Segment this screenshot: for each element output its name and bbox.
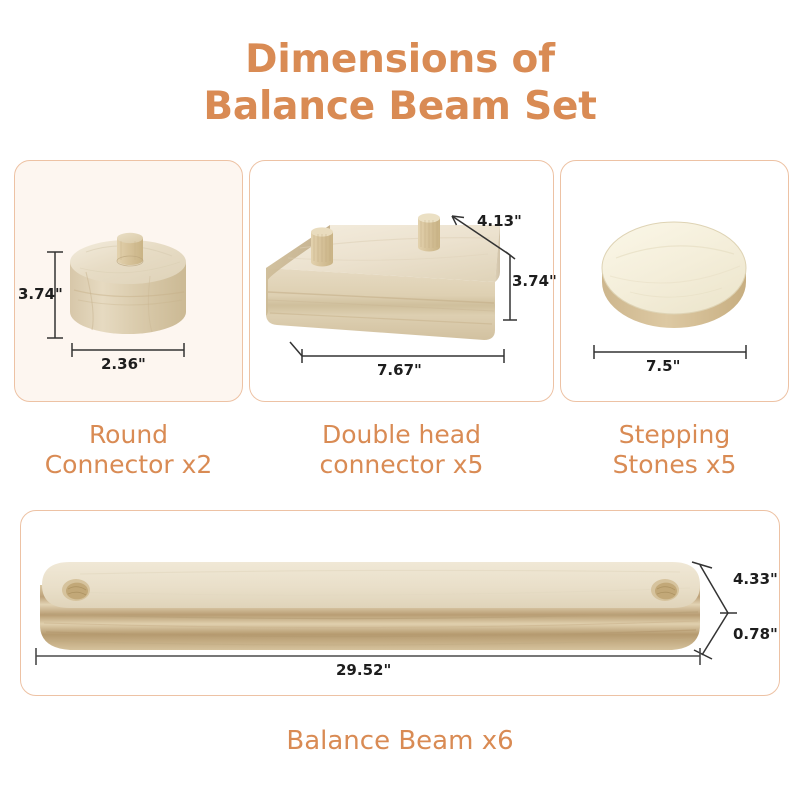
product-card-balance-beam xyxy=(20,510,780,696)
caption-balance-beam: Balance Beam x6 xyxy=(20,726,780,756)
caption-stepping-stones-line2: Stones x5 xyxy=(560,450,789,480)
caption-round-connector-line1: Round xyxy=(14,420,243,450)
product-card-double-head-connector xyxy=(249,160,554,402)
caption-double-head-connector-line1: Double head xyxy=(249,420,554,450)
caption-double-head-connector-line2: connector x5 xyxy=(249,450,554,480)
caption-double-head-connector: Double head connector x5 xyxy=(249,420,554,480)
caption-stepping-stones-line1: Stepping xyxy=(560,420,789,450)
infographic-page: Dimensions of Balance Beam Set xyxy=(0,0,800,800)
dimension-label-round-height: 3.74" xyxy=(18,285,63,303)
round-connector-illustration xyxy=(70,233,186,334)
dimension-label-round-diameter: 2.36" xyxy=(101,355,146,373)
product-card-stepping-stones xyxy=(560,160,789,402)
caption-round-connector-line2: Connector x2 xyxy=(14,450,243,480)
caption-balance-beam-text: Balance Beam x6 xyxy=(20,726,780,756)
caption-stepping-stones: Stepping Stones x5 xyxy=(560,420,789,480)
caption-round-connector: Round Connector x2 xyxy=(14,420,243,480)
